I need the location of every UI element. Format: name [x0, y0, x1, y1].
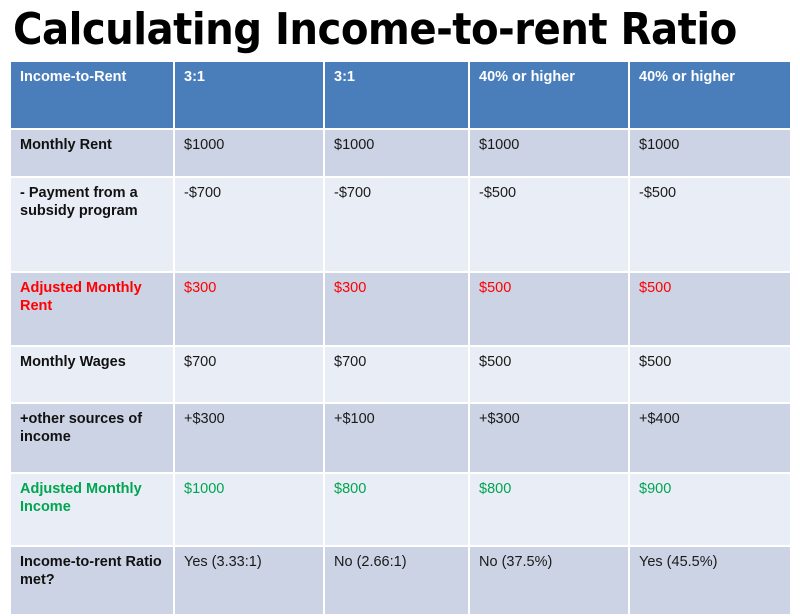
cell-monthly-rent-3: $1000 — [470, 130, 630, 178]
column-header-scenario-4: 40% or higher — [630, 62, 790, 130]
table-header-row: Income-to-Rent 3:1 3:1 40% or higher 40%… — [11, 62, 790, 130]
cell-ratio-met-3: No (37.5%) — [470, 547, 630, 616]
cell-monthly-wages-3: $500 — [470, 347, 630, 404]
table-row-ratio-met: Income-to-rent Ratio met? Yes (3.33:1) N… — [11, 547, 790, 616]
cell-ratio-met-4: Yes (45.5%) — [630, 547, 790, 616]
cell-ratio-met-1: Yes (3.33:1) — [175, 547, 325, 616]
cell-adjusted-monthly-rent-4: $500 — [630, 273, 790, 347]
row-label-adjusted-monthly-income: Adjusted Monthly Income — [11, 474, 175, 547]
cell-other-income-2: +$100 — [325, 404, 470, 474]
row-label-monthly-wages: Monthly Wages — [11, 347, 175, 404]
cell-subsidy-payment-3: -$500 — [470, 178, 630, 273]
row-label-adjusted-monthly-rent: Adjusted Monthly Rent — [11, 273, 175, 347]
cell-monthly-wages-1: $700 — [175, 347, 325, 404]
cell-monthly-rent-1: $1000 — [175, 130, 325, 178]
cell-adjusted-monthly-income-4: $900 — [630, 474, 790, 547]
cell-adjusted-monthly-rent-2: $300 — [325, 273, 470, 347]
row-label-subsidy-payment: - Payment from a subsidy program — [11, 178, 175, 273]
cell-monthly-wages-4: $500 — [630, 347, 790, 404]
slide-canvas: Calculating Income-to-rent Ratio Income-… — [0, 0, 800, 598]
cell-other-income-1: +$300 — [175, 404, 325, 474]
cell-adjusted-monthly-income-2: $800 — [325, 474, 470, 547]
cell-adjusted-monthly-income-3: $800 — [470, 474, 630, 547]
table-row-monthly-rent: Monthly Rent $1000 $1000 $1000 $1000 — [11, 130, 790, 178]
cell-subsidy-payment-1: -$700 — [175, 178, 325, 273]
income-to-rent-table: Income-to-Rent 3:1 3:1 40% or higher 40%… — [11, 62, 790, 616]
row-label-monthly-rent: Monthly Rent — [11, 130, 175, 178]
table-row-adjusted-monthly-rent: Adjusted Monthly Rent $300 $300 $500 $50… — [11, 273, 790, 347]
cell-ratio-met-2: No (2.66:1) — [325, 547, 470, 616]
table-row-monthly-wages: Monthly Wages $700 $700 $500 $500 — [11, 347, 790, 404]
table-body: Monthly Rent $1000 $1000 $1000 $1000 - P… — [11, 130, 790, 616]
cell-other-income-3: +$300 — [470, 404, 630, 474]
column-header-scenario-1: 3:1 — [175, 62, 325, 130]
cell-adjusted-monthly-rent-1: $300 — [175, 273, 325, 347]
row-label-other-income: +other sources of income — [11, 404, 175, 474]
row-label-ratio-met: Income-to-rent Ratio met? — [11, 547, 175, 616]
column-header-scenario-3: 40% or higher — [470, 62, 630, 130]
cell-adjusted-monthly-income-1: $1000 — [175, 474, 325, 547]
cell-subsidy-payment-2: -$700 — [325, 178, 470, 273]
table-row-other-income: +other sources of income +$300 +$100 +$3… — [11, 404, 790, 474]
column-header-income-to-rent: Income-to-Rent — [11, 62, 175, 130]
cell-monthly-rent-2: $1000 — [325, 130, 470, 178]
cell-other-income-4: +$400 — [630, 404, 790, 474]
cell-monthly-wages-2: $700 — [325, 347, 470, 404]
table-row-adjusted-monthly-income: Adjusted Monthly Income $1000 $800 $800 … — [11, 474, 790, 547]
table-header: Income-to-Rent 3:1 3:1 40% or higher 40%… — [11, 62, 790, 130]
cell-adjusted-monthly-rent-3: $500 — [470, 273, 630, 347]
cell-subsidy-payment-4: -$500 — [630, 178, 790, 273]
table-row-subsidy-payment: - Payment from a subsidy program -$700 -… — [11, 178, 790, 273]
page-title: Calculating Income-to-rent Ratio — [13, 2, 721, 60]
column-header-scenario-2: 3:1 — [325, 62, 470, 130]
cell-monthly-rent-4: $1000 — [630, 130, 790, 178]
